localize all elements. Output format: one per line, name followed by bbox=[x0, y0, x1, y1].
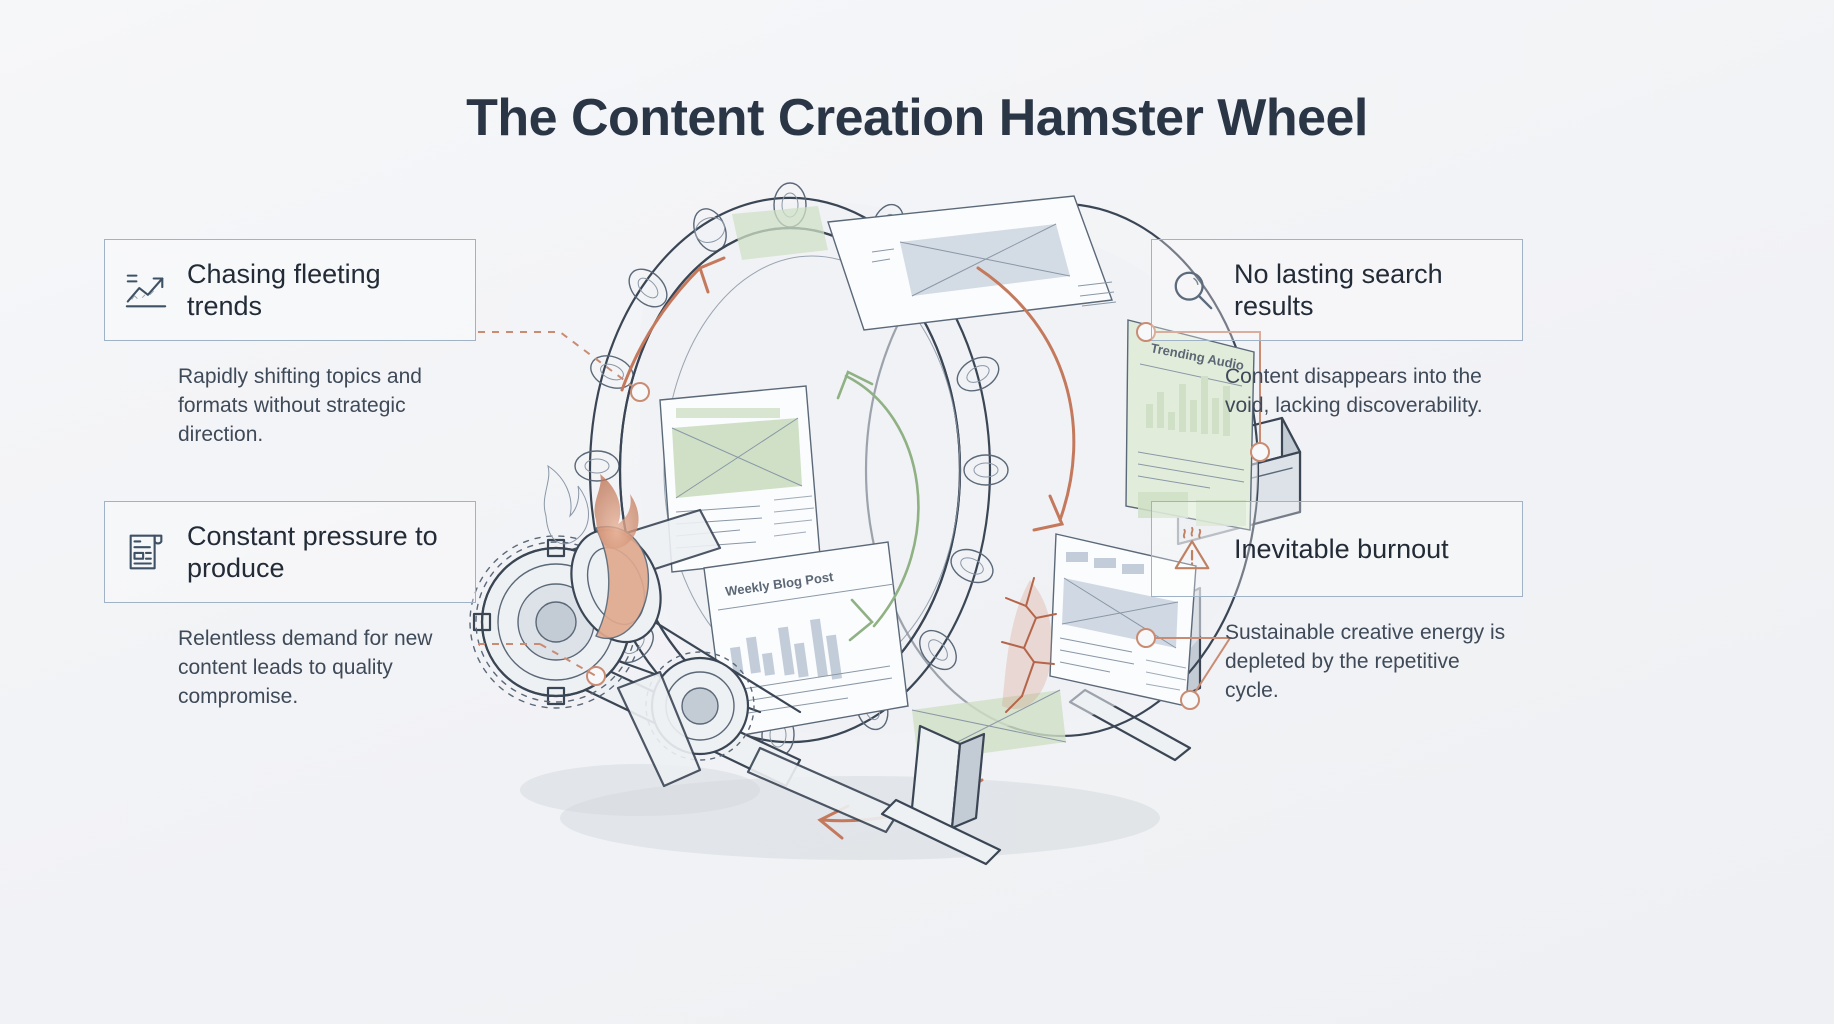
card-title: Constant pressure to produce bbox=[187, 520, 455, 584]
card-body: Rapidly shifting topics and formats with… bbox=[104, 363, 476, 450]
card-body: Content disappears into the void, lackin… bbox=[1151, 363, 1523, 421]
magnifier-icon bbox=[1170, 267, 1216, 313]
warning-heat-icon bbox=[1170, 526, 1216, 572]
card-header: Inevitable burnout bbox=[1151, 501, 1523, 597]
card-no-lasting-search-results[interactable]: No lasting search results Content disapp… bbox=[1151, 239, 1523, 421]
card-inevitable-burnout[interactable]: Inevitable burnout Sustainable creative … bbox=[1151, 501, 1523, 706]
card-constant-pressure-to-produce[interactable]: Constant pressure to produce Relentless … bbox=[104, 501, 476, 712]
card-header: Chasing fleeting trends bbox=[104, 239, 476, 341]
card-title: Chasing fleeting trends bbox=[187, 258, 455, 322]
card-body: Relentless demand for new content leads … bbox=[104, 625, 476, 712]
card-title: Inevitable burnout bbox=[1234, 533, 1449, 565]
trending-chart-icon bbox=[123, 267, 169, 313]
card-body: Sustainable creative energy is depleted … bbox=[1151, 619, 1523, 706]
card-chasing-fleeting-trends[interactable]: Chasing fleeting trends Rapidly shifting… bbox=[104, 239, 476, 450]
infographic-canvas: The Content Creation Hamster Wheel bbox=[0, 0, 1834, 1024]
card-title: No lasting search results bbox=[1234, 258, 1502, 322]
document-icon bbox=[123, 529, 169, 575]
card-header: Constant pressure to produce bbox=[104, 501, 476, 603]
card-header: No lasting search results bbox=[1151, 239, 1523, 341]
